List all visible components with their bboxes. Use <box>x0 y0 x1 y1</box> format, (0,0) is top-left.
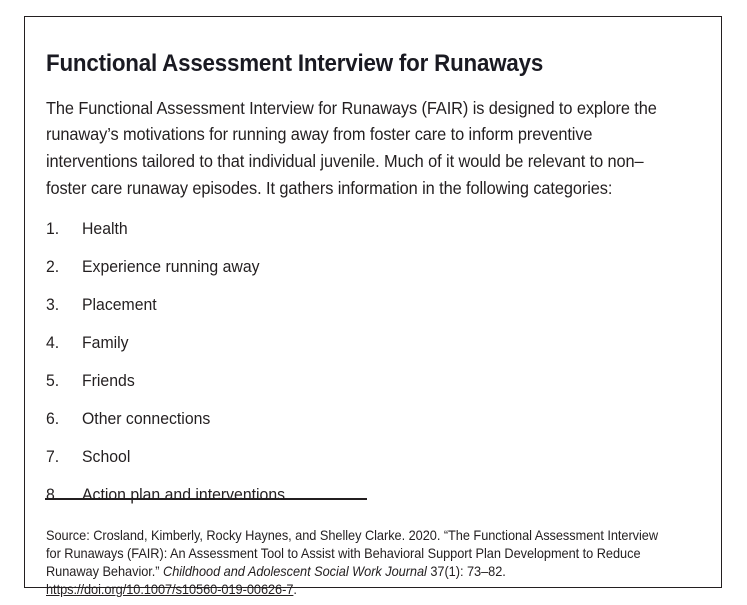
list-item-label: Experience running away <box>82 248 260 286</box>
list-item-label: Family <box>82 324 129 362</box>
list-item: 4. Family <box>46 324 666 362</box>
list-item-label: Friends <box>82 362 135 400</box>
list-item: 5. Friends <box>46 362 666 400</box>
list-item: 1. Health <box>46 210 666 248</box>
source-divider <box>45 498 367 500</box>
list-item-number: 7. <box>46 438 70 476</box>
list-item-number: 2. <box>46 248 70 286</box>
list-item-number: 4. <box>46 324 70 362</box>
list-item-number: 8. <box>46 476 70 514</box>
list-item-label: Other connections <box>82 400 210 438</box>
list-item-label: School <box>82 438 130 476</box>
list-item-number: 3. <box>46 286 70 324</box>
source-doi-link[interactable]: https://doi.org/10.1007/s10560-019-00626… <box>46 582 293 597</box>
category-list: 1. Health 2. Experience running away 3. … <box>46 210 666 514</box>
list-item-number: 6. <box>46 400 70 438</box>
list-item: 7. School <box>46 438 666 476</box>
list-item-number: 5. <box>46 362 70 400</box>
source-citation-detail: 37(1): 73–82. <box>427 564 506 579</box>
source-terminal-period: . <box>293 582 297 597</box>
list-item: 2. Experience running away <box>46 248 666 286</box>
figure-intro-paragraph: The Functional Assessment Interview for … <box>46 95 674 202</box>
figure-container: Functional Assessment Interview for Runa… <box>24 16 722 588</box>
list-item: 8. Action plan and interventions <box>46 476 666 514</box>
list-item: 6. Other connections <box>46 400 666 438</box>
source-journal-title: Childhood and Adolescent Social Work Jou… <box>163 564 427 579</box>
list-item-label: Health <box>82 210 128 248</box>
list-item-label: Action plan and interventions <box>82 476 285 514</box>
source-note: Source: Crosland, Kimberly, Rocky Haynes… <box>46 527 674 600</box>
list-item-number: 1. <box>46 210 70 248</box>
list-item-label: Placement <box>82 286 157 324</box>
list-item: 3. Placement <box>46 286 666 324</box>
figure-title: Functional Assessment Interview for Runa… <box>46 49 651 79</box>
